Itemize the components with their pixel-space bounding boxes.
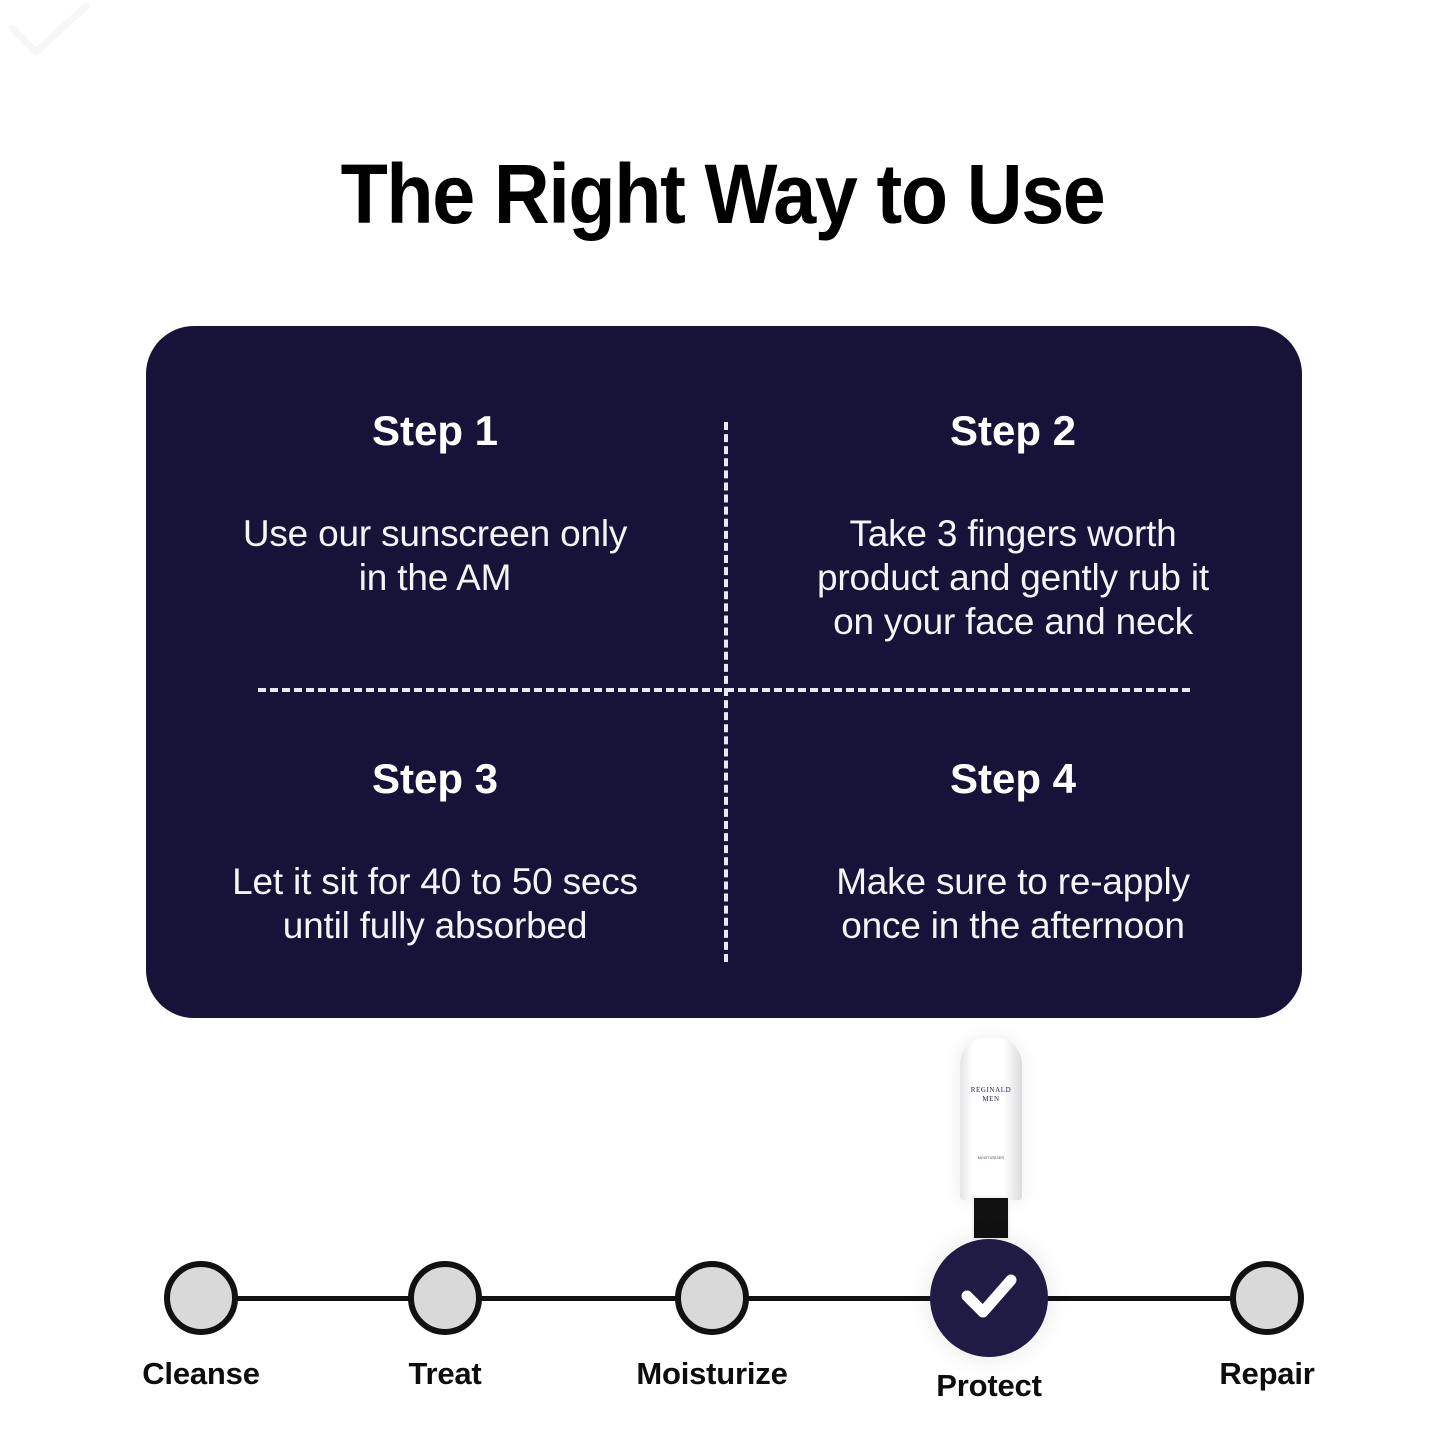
step-1-body: Use our sunscreen only in the AM xyxy=(225,512,645,600)
timeline-dot-cleanse[interactable] xyxy=(164,1261,238,1335)
step-cell-1: Step 1 Use our sunscreen only in the AM xyxy=(146,326,724,672)
timeline-step-cleanse[interactable]: Cleanse xyxy=(121,1240,281,1391)
horizontal-dashed-divider xyxy=(258,688,1190,692)
vertical-dashed-divider xyxy=(724,422,728,962)
step-cell-2: Step 2 Take 3 fingers worth product and … xyxy=(724,326,1302,672)
timeline-dot-moisturize[interactable] xyxy=(675,1261,749,1335)
tube-brand-line-1: REGINALD xyxy=(960,1086,1022,1095)
timeline-label-treat: Treat xyxy=(365,1357,525,1391)
timeline-label-moisturize: Moisturize xyxy=(632,1357,792,1391)
step-4-body: Make sure to re-apply once in the aftern… xyxy=(803,860,1223,948)
timeline-step-protect[interactable]: Protect xyxy=(909,1240,1069,1403)
timeline-step-moisturize[interactable]: Moisturize xyxy=(632,1240,792,1391)
tube-brand-label: REGINALD MEN xyxy=(960,1086,1022,1104)
timeline-label-cleanse: Cleanse xyxy=(121,1357,281,1391)
timeline-dot-treat[interactable] xyxy=(408,1261,482,1335)
timeline-step-treat[interactable]: Treat xyxy=(365,1240,525,1391)
step-2-title: Step 2 xyxy=(950,408,1076,454)
tube-cap xyxy=(972,1196,1010,1240)
steps-card: Step 1 Use our sunscreen only in the AM … xyxy=(146,326,1302,1018)
tube-body: REGINALD MEN MOISTURISER xyxy=(960,1038,1022,1200)
timeline-dot-repair[interactable] xyxy=(1230,1261,1304,1335)
step-cell-4: Step 4 Make sure to re-apply once in the… xyxy=(724,672,1302,1018)
checkmark-watermark-icon xyxy=(6,2,92,64)
tube-sub-label: MOISTURISER xyxy=(960,1156,1022,1161)
routine-timeline: Cleanse Treat Moisturize Protect Repair xyxy=(0,1240,1445,1420)
check-icon xyxy=(953,1260,1025,1337)
timeline-step-repair[interactable]: Repair xyxy=(1187,1240,1347,1391)
step-cell-3: Step 3 Let it sit for 40 to 50 secs unti… xyxy=(146,672,724,1018)
step-2-body: Take 3 fingers worth product and gently … xyxy=(803,512,1223,644)
step-1-title: Step 1 xyxy=(372,408,498,454)
step-3-body: Let it sit for 40 to 50 secs until fully… xyxy=(225,860,645,948)
timeline-dot-protect[interactable] xyxy=(930,1239,1048,1357)
product-tube-image: REGINALD MEN MOISTURISER xyxy=(960,1038,1022,1238)
step-3-title: Step 3 xyxy=(372,756,498,802)
page-title: The Right Way to Use xyxy=(58,146,1387,242)
timeline-label-repair: Repair xyxy=(1187,1357,1347,1391)
timeline-label-protect: Protect xyxy=(909,1369,1069,1403)
tube-brand-line-2: MEN xyxy=(960,1095,1022,1104)
step-4-title: Step 4 xyxy=(950,756,1076,802)
